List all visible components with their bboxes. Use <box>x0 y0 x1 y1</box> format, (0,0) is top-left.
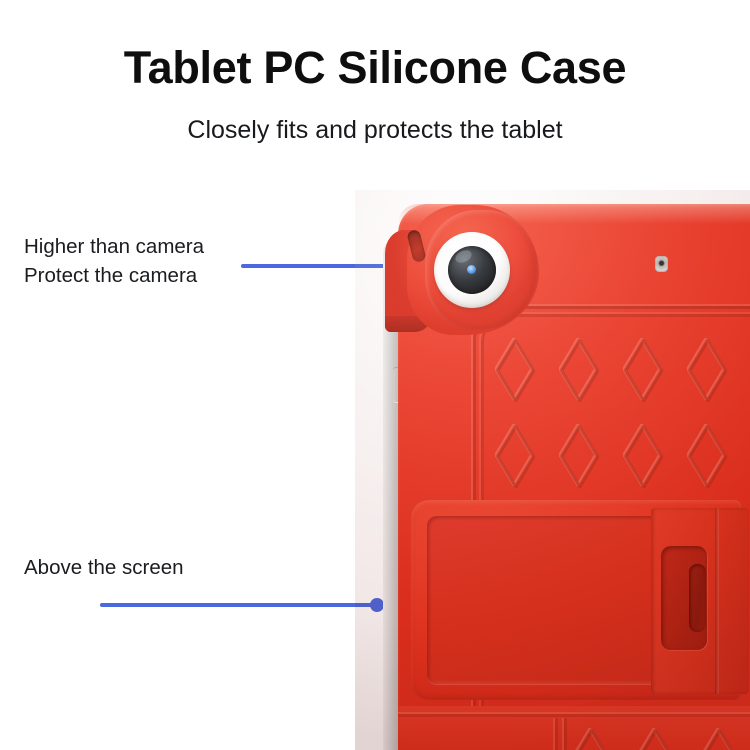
annotation-camera-line2: Protect the camera <box>24 261 204 290</box>
product-feature-image: Tablet PC Silicone Case Closely fits and… <box>0 0 750 750</box>
diamond-emboss <box>559 424 599 488</box>
diamond-emboss <box>623 424 663 488</box>
kickstand-thumb-grip <box>689 564 706 632</box>
diamond-emboss <box>495 424 535 488</box>
microphone-hole <box>655 256 668 272</box>
kickstand-hinge-seam <box>715 508 719 694</box>
case-bottom-engraved-rule <box>398 714 750 717</box>
diamond-emboss <box>559 338 599 402</box>
diamond-emboss <box>571 728 611 750</box>
diamond-emboss <box>687 424 727 488</box>
annotation-camera-line1: Higher than camera <box>24 232 204 261</box>
diamond-emboss <box>687 338 727 402</box>
page-title: Tablet PC Silicone Case <box>0 44 750 91</box>
product-photo <box>355 190 750 750</box>
page-subtitle: Closely fits and protects the tablet <box>0 117 750 145</box>
annotation-screen-label: Above the screen <box>24 553 184 582</box>
case-bottom-seam-1 <box>555 718 558 750</box>
diamond-emboss <box>635 728 675 750</box>
diamond-emboss <box>699 728 739 750</box>
diamond-emboss <box>623 338 663 402</box>
camera-lens-glint <box>467 265 476 274</box>
case-bottom-seam-2 <box>564 718 567 750</box>
annotation-screen-leader-line <box>100 603 380 607</box>
annotation-camera-label: Higher than camera Protect the camera <box>24 232 204 290</box>
diamond-emboss <box>495 338 535 402</box>
annotation-screen-line1: Above the screen <box>24 553 184 582</box>
